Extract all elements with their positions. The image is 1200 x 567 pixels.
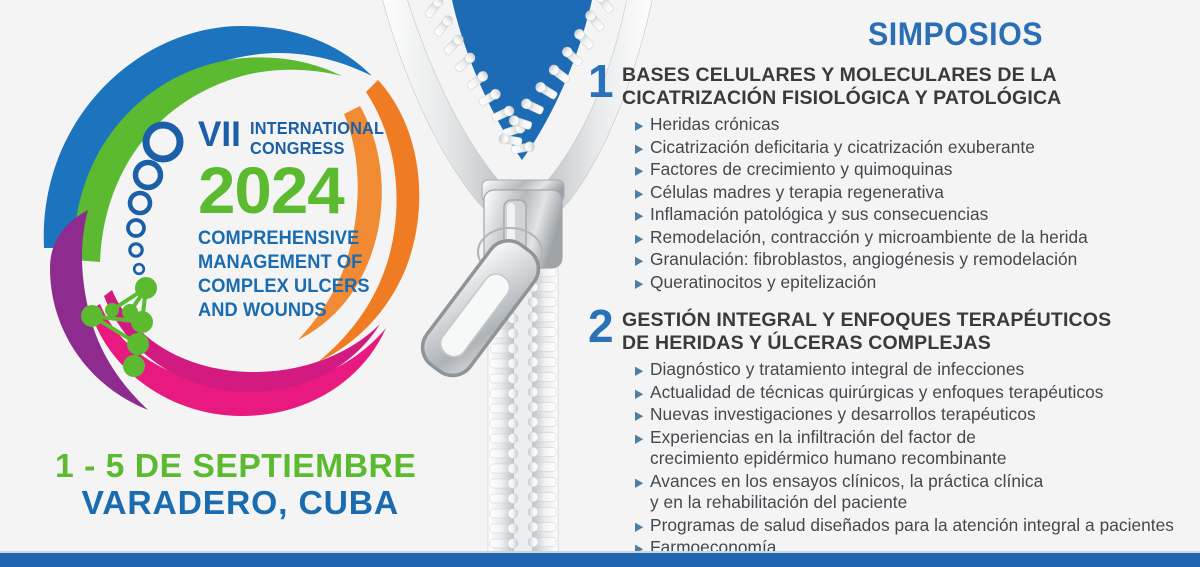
list-item: Inflamación patológica y sus consecuenci…	[634, 204, 1188, 226]
list-item-line: Remodelación, contracción y microambient…	[650, 227, 1088, 249]
section-title-line-2: DE HERIDAS Y ÚLCERAS COMPLEJAS	[622, 332, 1111, 355]
list-item-label: Avances en los ensayos clínicos, la prác…	[650, 471, 1043, 514]
poster-canvas: VII INTERNATIONAL CONGRESS 2024 COMPREHE…	[0, 0, 1200, 567]
list-item: Células madres y terapia regenerativa	[634, 182, 1188, 204]
list-item: Cicatrización deficitaria y cicatrizació…	[634, 137, 1188, 159]
logo-subtitle: COMPREHENSIVE MANAGEMENT OF COMPLEX ULCE…	[198, 227, 404, 323]
list-item: Avances en los ensayos clínicos, la prác…	[634, 471, 1188, 514]
logo-subtitle-line-4: AND WOUNDS	[198, 299, 404, 323]
list-item-line: Avances en los ensayos clínicos, la prác…	[650, 471, 1043, 493]
list-item-line: y en la rehabilitación del paciente	[650, 492, 1043, 514]
panel-title: SIMPOSIOS	[758, 16, 1152, 52]
symposium-section-1: 1BASES CELULARES Y MOLECULARES DE LACICA…	[588, 62, 1188, 293]
triangle-right-icon	[634, 249, 650, 267]
list-item-label: Remodelación, contracción y microambient…	[650, 227, 1088, 249]
list-item: Factores de crecimiento y quimoquinas	[634, 159, 1188, 181]
section-bullet-list: Diagnóstico y tratamiento integral de in…	[634, 359, 1188, 559]
triangle-right-icon	[634, 227, 650, 245]
list-item-line: Actualidad de técnicas quirúrgicas y enf…	[650, 382, 1103, 404]
congress-logo: VII INTERNATIONAL CONGRESS 2024 COMPREHE…	[30, 10, 430, 430]
triangle-right-icon	[634, 359, 650, 377]
list-item-label: Actualidad de técnicas quirúrgicas y enf…	[650, 382, 1103, 404]
list-item-line: Diagnóstico y tratamiento integral de in…	[650, 359, 1024, 381]
list-item-line: crecimiento epidérmico humano recombinan…	[650, 448, 1007, 470]
symposium-section-2: 2GESTIÓN INTEGRAL Y ENFOQUES TERAPÉUTICO…	[588, 307, 1188, 559]
triangle-right-icon	[634, 427, 650, 445]
list-item-label: Diagnóstico y tratamiento integral de in…	[650, 359, 1024, 381]
event-date: 1 - 5 DE SEPTIEMBRE	[55, 448, 463, 484]
triangle-right-icon	[634, 182, 650, 200]
section-header: 1BASES CELULARES Y MOLECULARES DE LACICA…	[588, 62, 1188, 110]
list-item-line: Factores de crecimiento y quimoquinas	[650, 159, 953, 181]
list-item-label: Programas de salud diseñados para la ate…	[650, 515, 1174, 537]
event-location: VARADERO, CUBA	[55, 484, 463, 521]
section-header: 2GESTIÓN INTEGRAL Y ENFOQUES TERAPÉUTICO…	[588, 307, 1188, 355]
list-item: Heridas crónicas	[634, 114, 1188, 136]
logo-roman-numeral: VII	[198, 118, 241, 152]
list-item: Granulación: fibroblastos, angiogénesis …	[634, 249, 1188, 271]
section-number: 1	[588, 60, 622, 102]
section-title-line-2: CICATRIZACIÓN FISIOLÓGICA Y PATOLÓGICA	[622, 87, 1061, 110]
list-item-label: Cicatrización deficitaria y cicatrizació…	[650, 137, 1035, 159]
list-item-label: Inflamación patológica y sus consecuenci…	[650, 204, 988, 226]
section-number: 2	[588, 305, 622, 347]
list-item-line: Granulación: fibroblastos, angiogénesis …	[650, 249, 1077, 271]
list-item: Nuevas investigaciones y desarrollos ter…	[634, 404, 1188, 426]
list-item: Queratinocitos y epitelización	[634, 272, 1188, 294]
triangle-right-icon	[634, 471, 650, 489]
triangle-right-icon	[634, 137, 650, 155]
bottom-bar	[0, 553, 1200, 567]
list-item: Experiencias en la infiltración del fact…	[634, 427, 1188, 470]
triangle-right-icon	[634, 404, 650, 422]
list-item: Diagnóstico y tratamiento integral de in…	[634, 359, 1188, 381]
section-title: GESTIÓN INTEGRAL Y ENFOQUES TERAPÉUTICOS…	[622, 307, 1111, 355]
triangle-right-icon	[634, 515, 650, 533]
logo-year: 2024	[198, 160, 417, 220]
symposia-panel: SIMPOSIOS 1BASES CELULARES Y MOLECULARES…	[588, 16, 1188, 560]
section-bullet-list: Heridas crónicasCicatrización deficitari…	[634, 114, 1188, 293]
list-item-label: Experiencias en la infiltración del fact…	[650, 427, 1007, 470]
triangle-right-icon	[634, 204, 650, 222]
section-title: BASES CELULARES Y MOLECULARES DE LACICAT…	[622, 62, 1061, 110]
list-item-label: Granulación: fibroblastos, angiogénesis …	[650, 249, 1077, 271]
list-item-label: Queratinocitos y epitelización	[650, 272, 876, 294]
logo-subtitle-line-2: MANAGEMENT OF	[198, 251, 404, 275]
list-item-line: Experiencias en la infiltración del fact…	[650, 427, 1007, 449]
list-item-line: Queratinocitos y epitelización	[650, 272, 876, 294]
event-date-location: 1 - 5 DE SEPTIEMBRE VARADERO, CUBA	[55, 448, 455, 521]
logo-congress-words: INTERNATIONAL CONGRESS	[250, 118, 394, 157]
logo-text-block: VII INTERNATIONAL CONGRESS 2024 COMPREHE…	[198, 118, 413, 323]
list-item-line: Nuevas investigaciones y desarrollos ter…	[650, 404, 1036, 426]
logo-title-row: VII INTERNATIONAL CONGRESS	[198, 118, 413, 157]
symposia-sections: 1BASES CELULARES Y MOLECULARES DE LACICA…	[588, 62, 1188, 559]
list-item-line: Heridas crónicas	[650, 114, 780, 136]
list-item: Actualidad de técnicas quirúrgicas y enf…	[634, 382, 1188, 404]
logo-international-label: INTERNATIONAL	[250, 118, 384, 138]
list-item: Programas de salud diseñados para la ate…	[634, 515, 1188, 537]
section-title-line-1: BASES CELULARES Y MOLECULARES DE LA	[622, 64, 1061, 87]
logo-subtitle-line-3: COMPLEX ULCERS	[198, 275, 404, 299]
logo-subtitle-line-1: COMPREHENSIVE	[198, 227, 404, 251]
list-item-line: Cicatrización deficitaria y cicatrizació…	[650, 137, 1035, 159]
list-item-label: Células madres y terapia regenerativa	[650, 182, 944, 204]
list-item-label: Heridas crónicas	[650, 114, 780, 136]
triangle-right-icon	[634, 272, 650, 290]
list-item-label: Nuevas investigaciones y desarrollos ter…	[650, 404, 1036, 426]
list-item-line: Inflamación patológica y sus consecuenci…	[650, 204, 988, 226]
list-item-line: Células madres y terapia regenerativa	[650, 182, 944, 204]
list-item-line: Programas de salud diseñados para la ate…	[650, 515, 1174, 537]
section-title-line-1: GESTIÓN INTEGRAL Y ENFOQUES TERAPÉUTICOS	[622, 309, 1111, 332]
list-item-label: Factores de crecimiento y quimoquinas	[650, 159, 953, 181]
triangle-right-icon	[634, 114, 650, 132]
triangle-right-icon	[634, 382, 650, 400]
list-item: Remodelación, contracción y microambient…	[634, 227, 1188, 249]
triangle-right-icon	[634, 159, 650, 177]
